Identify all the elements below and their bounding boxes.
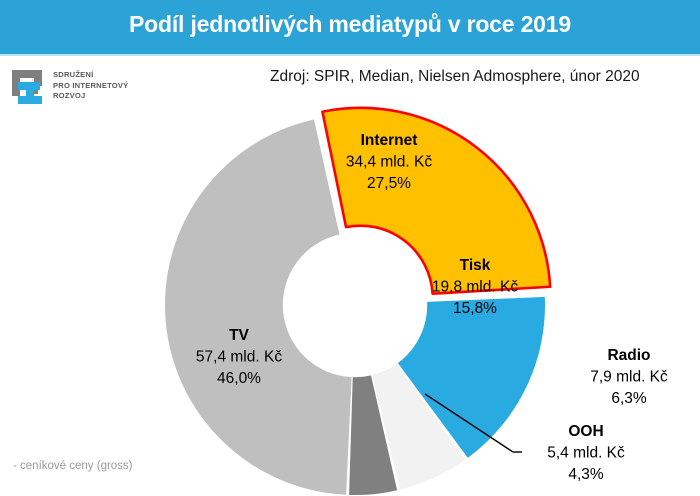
- slice-label-name: TV: [229, 327, 249, 344]
- slice-label-ooh: OOH5,4 mld. Kč4,3%: [547, 423, 625, 483]
- donut-slice-tv[interactable]: [165, 119, 352, 494]
- slice-label-value: 57,4 mld. Kč: [196, 349, 282, 366]
- slice-label-value: 5,4 mld. Kč: [547, 445, 625, 462]
- slice-label-percent: 15,8%: [453, 300, 497, 317]
- slice-label-name: Radio: [607, 347, 650, 364]
- slice-label-value: 7,9 mld. Kč: [590, 369, 668, 386]
- slice-label-name: Tisk: [460, 257, 491, 274]
- donut-chart: Internet34,4 mld. Kč27,5%Tisk19,8 mld. K…: [0, 0, 700, 496]
- slice-label-value: 19,8 mld. Kč: [432, 279, 518, 296]
- slice-label-name: OOH: [568, 423, 603, 440]
- slice-label-name: Internet: [361, 132, 418, 149]
- slice-label-value: 34,4 mld. Kč: [346, 154, 432, 171]
- slice-label-percent: 27,5%: [367, 175, 411, 192]
- donut-slice-internet[interactable]: [322, 108, 550, 294]
- slice-label-percent: 4,3%: [568, 466, 604, 483]
- slice-label-percent: 6,3%: [611, 390, 647, 407]
- slice-label-radio: Radio7,9 mld. Kč6,3%: [590, 347, 668, 407]
- slice-label-percent: 46,0%: [217, 370, 261, 387]
